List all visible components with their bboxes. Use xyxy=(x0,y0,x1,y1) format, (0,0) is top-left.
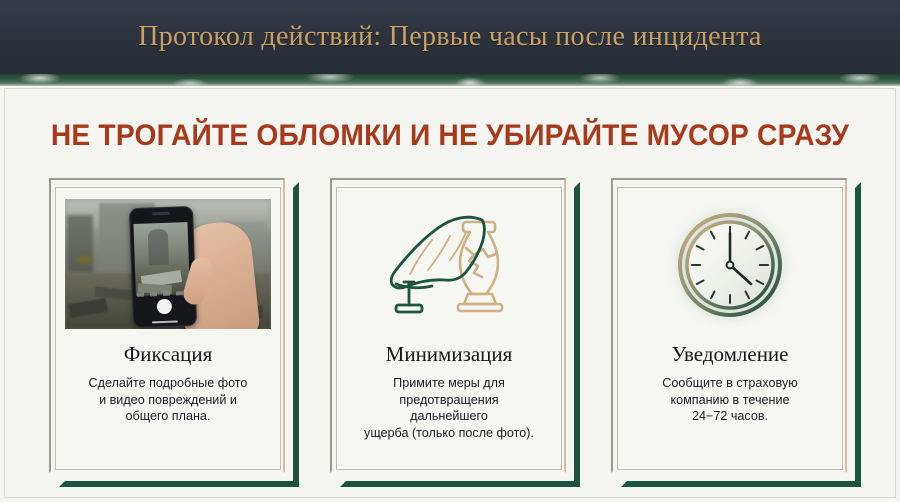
main-headline: НЕ ТРОГАЙТЕ ОБЛОМКИ И НЕ УБИРАЙТЕ МУСОР … xyxy=(27,119,873,153)
card-body: Минимизация Примите меры для предотвраще… xyxy=(336,187,562,470)
card-title: Уведомление xyxy=(671,343,788,366)
card-media xyxy=(346,199,552,329)
slide-root: Протокол действий: Первые часы после инц… xyxy=(0,0,900,502)
card-media xyxy=(65,199,271,329)
card-body: Уведомление Сообщите в страховую компани… xyxy=(617,187,843,470)
slide-header: Протокол действий: Первые часы после инц… xyxy=(0,0,900,74)
card-description: Сделайте подробные фото и видео поврежде… xyxy=(89,375,248,425)
card-minimizatsiya: Минимизация Примите меры для предотвраще… xyxy=(330,178,570,478)
card-row: Фиксация Сделайте подробные фото и видео… xyxy=(0,178,900,478)
card-description: Сообщите в страховую компанию в течение … xyxy=(662,375,797,425)
wall-clock-icon xyxy=(671,205,789,323)
hand-holding-phone-photographing-damaged-grave-photo xyxy=(65,199,271,329)
card-fiksatsiya: Фиксация Сделайте подробные фото и видео… xyxy=(49,178,289,478)
card-media xyxy=(627,199,833,329)
card-uvedomlenie: Уведомление Сообщите в страховую компани… xyxy=(611,178,851,478)
card-body: Фиксация Сделайте подробные фото и видео… xyxy=(55,187,281,470)
header-title: Протокол действий: Первые часы после инц… xyxy=(138,21,762,53)
card-title: Минимизация xyxy=(386,343,513,366)
tarp-over-cracked-vase-icon xyxy=(374,204,524,324)
card-title: Фиксация xyxy=(124,343,213,366)
card-description: Примите меры для предотвращения дальнейш… xyxy=(364,375,534,441)
